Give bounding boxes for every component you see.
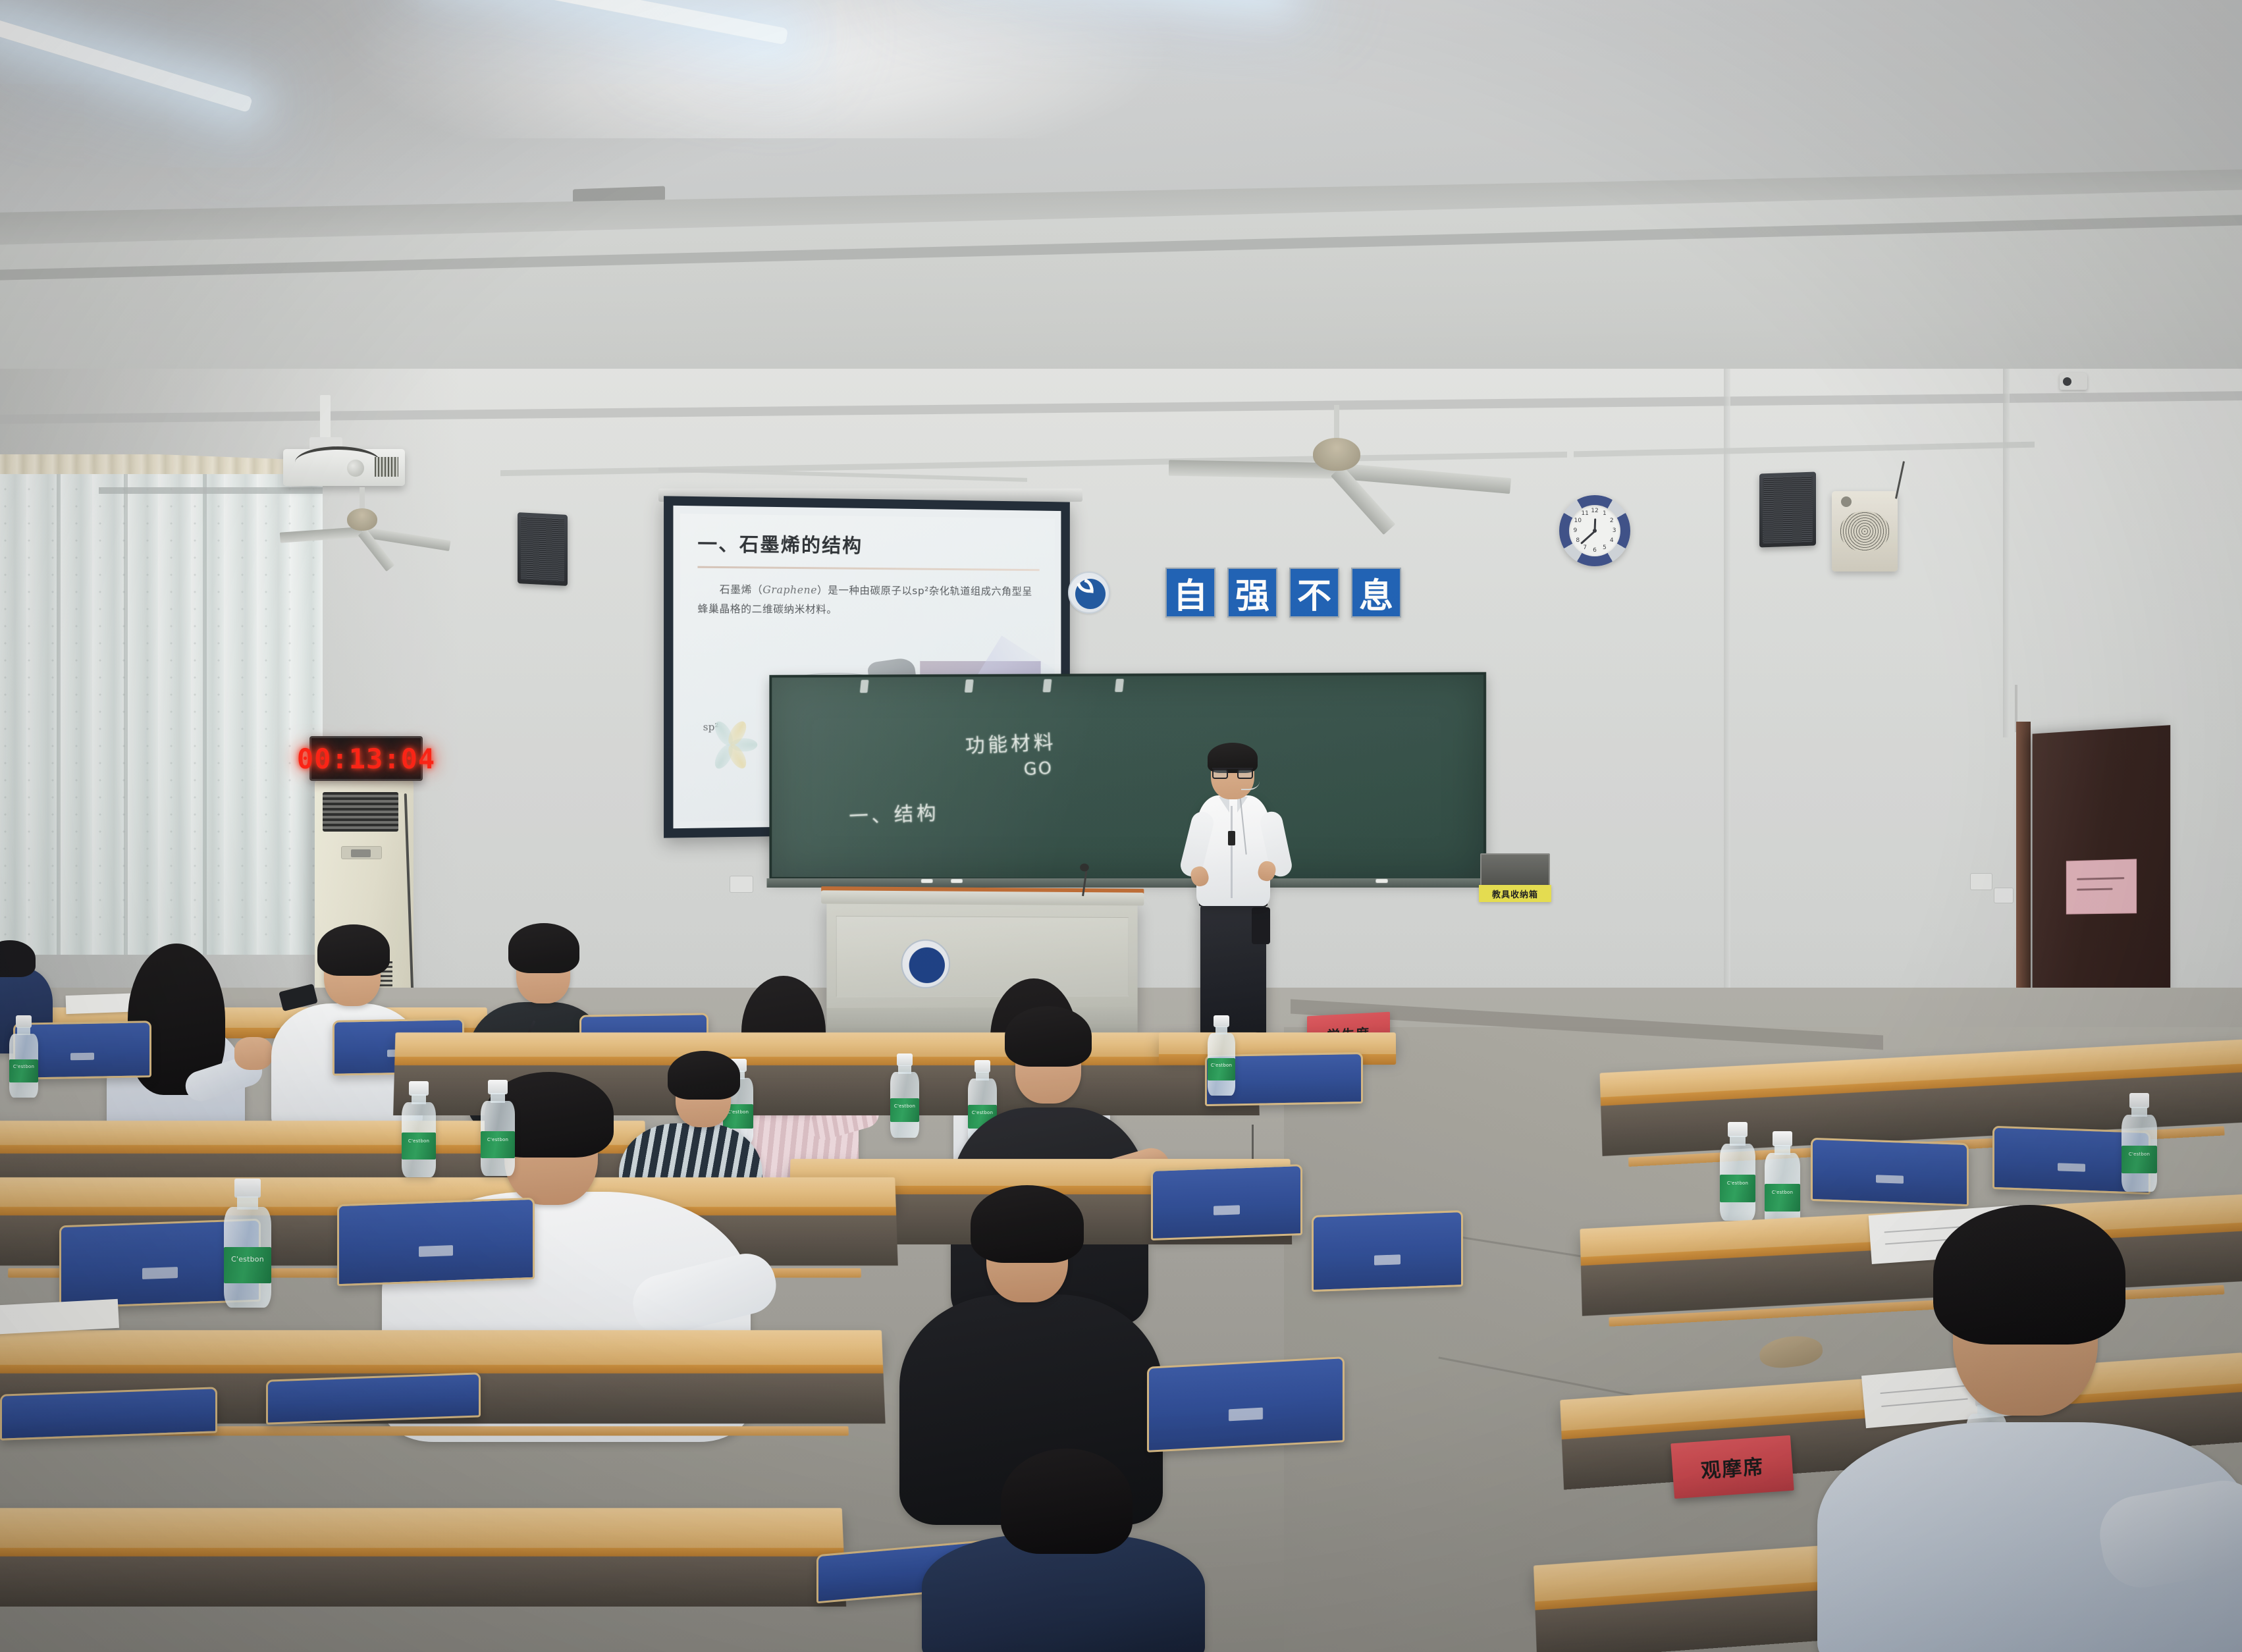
chalk-text-line-2: GO — [1023, 759, 1054, 780]
attendee-hair — [1001, 1449, 1133, 1554]
speaker-mesh — [1763, 476, 1813, 544]
bottle-brand-text: C'estbon — [9, 1064, 38, 1069]
projector-lens — [347, 460, 364, 477]
ceiling-projector — [283, 449, 405, 486]
fan-motor — [347, 508, 377, 531]
projector-cables — [295, 446, 381, 462]
eyeglass-lens-left — [1212, 769, 1228, 779]
bottle-cap — [234, 1179, 261, 1198]
wall-power-socket[interactable] — [730, 876, 753, 893]
ac-display-screen — [351, 849, 371, 857]
amplifier-knob[interactable] — [1841, 496, 1852, 507]
seat-tag — [142, 1267, 178, 1279]
seat-row5-2[interactable] — [266, 1372, 481, 1424]
curtain-seam-2 — [124, 474, 128, 955]
seat-row4-2[interactable] — [337, 1198, 535, 1286]
seat-right-1[interactable] — [1811, 1138, 1969, 1206]
wall-power-socket[interactable] — [1994, 888, 2014, 903]
seat-tag — [1876, 1175, 1904, 1184]
water-bottle[interactable]: C'estbon — [481, 1080, 515, 1176]
clock-number: 7 — [1583, 545, 1587, 551]
wall-amplifier[interactable] — [1832, 491, 1898, 572]
teaching-aid-box[interactable] — [1480, 853, 1550, 888]
attendee-bottom-center — [922, 1442, 1212, 1652]
seat-tag — [2058, 1163, 2085, 1172]
bottle-brand-text: C'estbon — [1720, 1181, 1755, 1186]
bottle-label: C'estbon — [890, 1098, 919, 1122]
water-bottle[interactable]: C'estbon — [224, 1179, 271, 1308]
door-notice-paper — [2066, 859, 2137, 914]
seat-row3-2[interactable] — [1312, 1210, 1463, 1292]
slide-title: 一、石墨烯的结构 — [697, 529, 1039, 560]
water-bottle[interactable]: C'estbon — [9, 1015, 38, 1098]
attendee-foreground-right-man — [1817, 1205, 2242, 1652]
wall-power-socket[interactable] — [1970, 873, 1992, 890]
bottle-brand-text: C'estbon — [1208, 1063, 1235, 1068]
bottle-label: C'estbon — [224, 1247, 271, 1283]
bottle-cap — [1773, 1131, 1792, 1146]
bottle-cap — [1214, 1015, 1229, 1027]
wall-speaker-left — [518, 512, 568, 586]
wall-column-seam-door — [2003, 369, 2010, 737]
clock-face: 12 1 2 3 4 5 6 7 8 9 10 11 — [1569, 505, 1620, 556]
blackboard[interactable]: 功能材料 GO 一、结构 — [769, 672, 1486, 883]
school-emblem-wall — [1068, 572, 1110, 614]
countdown-timer-value: 00:13:04 — [297, 743, 435, 775]
clock-number: 3 — [1613, 527, 1616, 534]
clock-number: 11 — [1581, 510, 1588, 517]
countdown-timer-display: 00:13:04 — [309, 736, 423, 781]
water-bottle[interactable]: C'estbon — [402, 1081, 436, 1177]
bottle-label: C'estbon — [2122, 1146, 2157, 1173]
bottle-body: C'estbon — [1208, 1033, 1235, 1096]
wall-motto-banner: 自 强 不 息 — [1165, 568, 1401, 618]
bottle-cap — [1728, 1122, 1748, 1137]
curtain-seam-3 — [203, 474, 207, 955]
bottle-cap — [488, 1080, 507, 1094]
bottle-cap — [409, 1081, 428, 1096]
bottle-body: C'estbon — [1720, 1144, 1755, 1221]
notice-text-line — [2077, 877, 2124, 880]
clock-number: 4 — [1610, 537, 1614, 544]
bottle-brand-text: C'estbon — [890, 1104, 919, 1109]
wall-clock: 12 1 2 3 4 5 6 7 8 9 10 11 — [1559, 495, 1630, 566]
security-camera — [2060, 373, 2087, 390]
attendee-hair — [508, 923, 579, 973]
fan-motor — [1313, 438, 1360, 471]
podium-microphone-head — [1080, 863, 1089, 871]
projector-mount-pole — [320, 395, 331, 442]
attendee-hair — [0, 940, 36, 977]
sp2-orbital-diagram: sp² — [702, 720, 760, 771]
seat-row5-1[interactable] — [0, 1387, 217, 1441]
board-clip — [1115, 679, 1124, 692]
attendee-hair — [317, 924, 390, 976]
banner-char-1: 自 — [1165, 568, 1215, 618]
bottle-label: C'estbon — [1765, 1184, 1800, 1212]
attendee-hair — [971, 1185, 1084, 1263]
bottle-body: C'estbon — [402, 1102, 436, 1177]
bottle-body: C'estbon — [481, 1101, 515, 1176]
board-clip — [965, 679, 974, 693]
bottle-body: C'estbon — [224, 1207, 271, 1308]
ceiling-fan-center — [1159, 405, 1514, 510]
clock-number: 10 — [1574, 518, 1582, 524]
bottle-label: C'estbon — [1720, 1175, 1755, 1202]
bottle-brand-text: C'estbon — [2122, 1152, 2157, 1157]
clock-number: 5 — [1603, 545, 1607, 551]
presenter-shirt-placket — [1231, 806, 1233, 898]
bottle-cap — [2129, 1093, 2149, 1108]
clock-number: 1 — [1603, 510, 1607, 517]
banner-char-3: 不 — [1289, 568, 1339, 618]
slide-body-part1: 石墨烯（ — [720, 583, 763, 596]
bottle-label: C'estbon — [402, 1132, 436, 1159]
bottle-body: C'estbon — [9, 1034, 38, 1098]
desk-row-6[interactable] — [0, 1508, 843, 1550]
chalk-text-line-3: 一、结构 — [848, 797, 940, 829]
bottle-cap — [16, 1015, 32, 1028]
seat-tag — [419, 1245, 454, 1257]
clock-number: 9 — [1573, 527, 1577, 534]
podium-emblem-core — [909, 947, 945, 983]
curtain-seam-1 — [57, 474, 61, 955]
ceiling-light-glow — [329, 0, 1185, 138]
desk-row-5[interactable] — [0, 1330, 883, 1367]
clock-minute-hand — [1580, 531, 1595, 545]
seat-row3-1[interactable] — [1151, 1164, 1302, 1240]
presenter-mic-clip — [1228, 831, 1235, 845]
sign-observers: 观摩席 — [1670, 1435, 1794, 1499]
seat-tag — [1229, 1408, 1264, 1421]
chalk-stick[interactable] — [921, 879, 933, 883]
chalk-stick[interactable] — [951, 879, 963, 883]
seat-tag — [1214, 1205, 1240, 1215]
ac-control-panel[interactable] — [341, 846, 382, 859]
curtain-pattern — [0, 481, 323, 942]
window-curtain-area — [0, 454, 323, 955]
wall-speaker-right — [1759, 471, 1816, 547]
clock-number: 12 — [1591, 508, 1598, 514]
water-bottle[interactable]: C'estbon — [890, 1053, 919, 1138]
amplifier-speaker-grille — [1840, 511, 1890, 552]
board-clip — [860, 680, 869, 693]
slide-title-rule — [697, 566, 1039, 572]
ceiling-fan-left — [277, 487, 448, 560]
attendee-hair — [1005, 1006, 1092, 1067]
projector-vents — [375, 457, 398, 477]
bottle-label: C'estbon — [481, 1131, 515, 1158]
clock-number: 6 — [1593, 547, 1597, 554]
water-bottle[interactable]: C'estbon — [2122, 1093, 2157, 1192]
slide-body-text: 石墨烯（Graphene）是一种由碳原子以sp²杂化轨道组成六角型呈蜂巢晶格的二… — [697, 580, 1039, 620]
notice-text-line — [2077, 888, 2112, 891]
fan-blade — [280, 527, 363, 543]
bottle-brand-text: C'estbon — [481, 1137, 515, 1142]
desk-judges-table[interactable] — [1159, 1032, 1396, 1056]
camera-lens-icon — [2063, 377, 2071, 386]
banner-char-4: 息 — [1351, 568, 1401, 618]
speaker-mesh — [521, 516, 564, 581]
toolbox-label: 教具收纳箱 — [1479, 885, 1551, 902]
clock-number: 2 — [1610, 518, 1614, 524]
bottle-brand-text: C'estbon — [402, 1138, 436, 1144]
seat-tag — [1374, 1254, 1401, 1266]
seat-tag — [70, 1053, 95, 1061]
fan-blade — [1169, 460, 1337, 479]
bottle-brand-text: C'estbon — [1765, 1190, 1800, 1195]
presenter-headset-mic — [1241, 776, 1260, 790]
board-clip — [1043, 679, 1052, 692]
chalk-text-line-1: 功能材料 — [965, 726, 1057, 759]
desk-front-panel — [0, 1557, 846, 1607]
water-bottle[interactable]: C'estbon — [1208, 1015, 1235, 1096]
podium-top-surface — [821, 890, 1144, 905]
water-bottle[interactable]: C'estbon — [1720, 1122, 1755, 1221]
presenter-belt-transmitter — [1252, 907, 1270, 944]
chalk-stick[interactable] — [1375, 879, 1387, 883]
classroom-photo-scene: 一、石墨烯的结构 石墨烯（Graphene）是一种由碳原子以sp²杂化轨道组成六… — [0, 0, 2242, 1652]
bottle-label: C'estbon — [9, 1059, 38, 1082]
water-bottle[interactable]: C'estbon — [1765, 1131, 1800, 1230]
presenter-lecturer — [1181, 737, 1293, 1040]
bottle-body: C'estbon — [890, 1072, 919, 1138]
slide-body-italic: Graphene — [762, 584, 817, 597]
bottle-cap — [897, 1053, 913, 1066]
clock-number: 8 — [1576, 537, 1580, 544]
ac-vent-grille — [323, 792, 398, 832]
seat-row5-3[interactable] — [1147, 1356, 1345, 1452]
bottle-label: C'estbon — [1208, 1058, 1235, 1080]
bottle-brand-text: C'estbon — [224, 1255, 271, 1264]
blackboard-sheen — [772, 675, 1483, 880]
presenter-shirt — [1196, 795, 1270, 906]
clock-center-pin — [1593, 529, 1597, 533]
attendee-hair — [1933, 1205, 2125, 1345]
banner-char-2: 强 — [1227, 568, 1277, 618]
bottle-body: C'estbon — [2122, 1115, 2157, 1192]
presenter-collar-right — [1237, 797, 1248, 813]
